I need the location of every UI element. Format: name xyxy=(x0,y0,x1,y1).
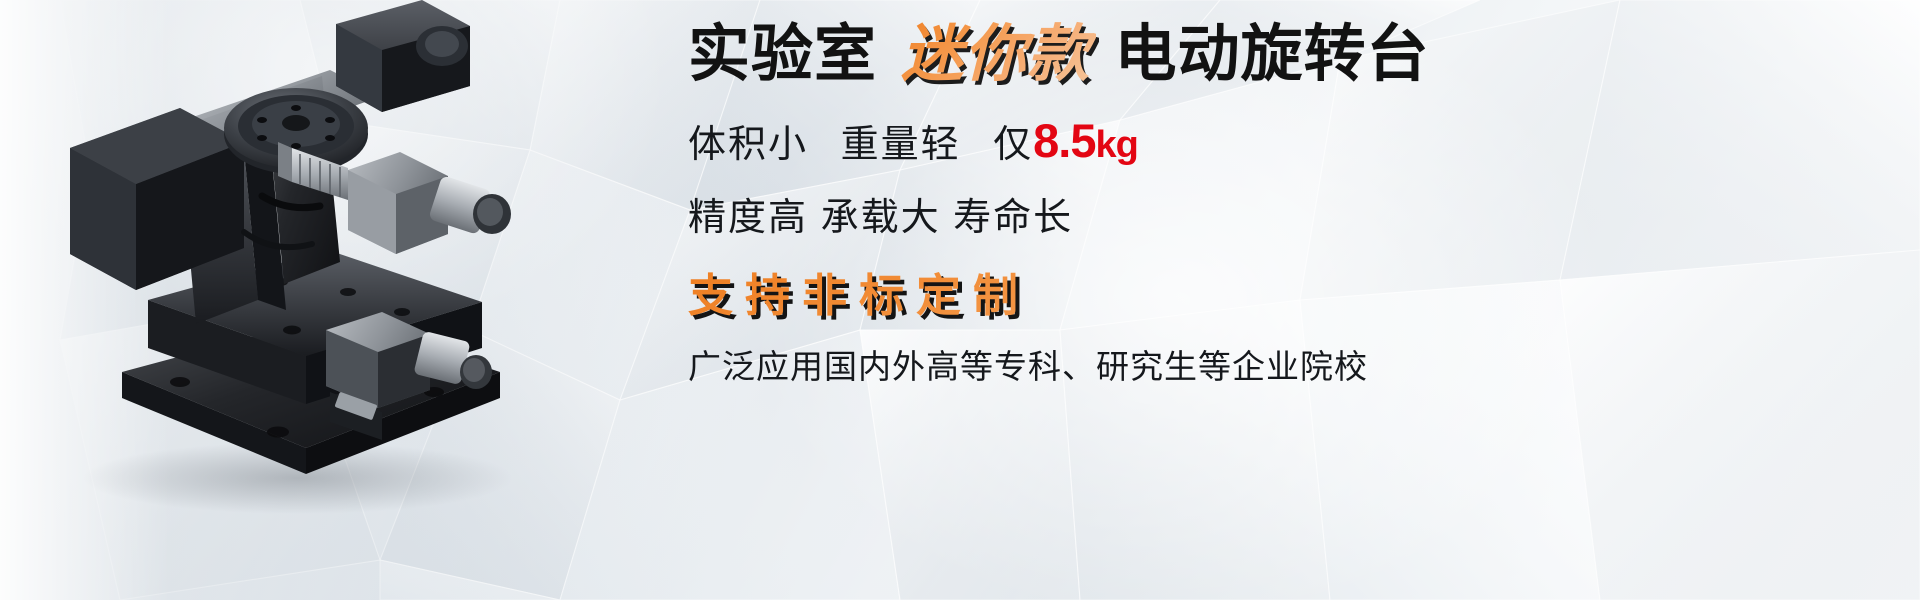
feature-1-item-3: 仅 xyxy=(993,124,1033,166)
feature-1-item-1: 体积小 xyxy=(688,124,808,166)
headline-part1: 实验室 xyxy=(688,20,877,89)
feature-line-2: 精度高 承载大 寿命长 xyxy=(688,186,1878,241)
weight-unit: kg xyxy=(1096,124,1138,166)
product-photo xyxy=(30,0,550,520)
application-text: 广泛应用国内外高等专科、研究生等企业院校 xyxy=(688,340,1878,388)
feature-2-item-2: 承载大 xyxy=(821,197,941,239)
weight-value: 8.5kg xyxy=(1033,114,1138,167)
promo-banner: 实验室 迷你款 电动旋转台 体积小 重量轻 仅8.5kg 精度高 承载大 寿命长… xyxy=(0,0,1920,600)
feature-line-1: 体积小 重量轻 仅8.5kg xyxy=(688,113,1878,168)
headline-accent: 迷你款 xyxy=(895,20,1096,89)
weight-number: 8.5 xyxy=(1033,114,1095,167)
feature-2-item-3: 寿命长 xyxy=(953,197,1073,239)
headline-part2: 电动旋转台 xyxy=(1115,20,1430,89)
copy-block: 实验室 迷你款 电动旋转台 体积小 重量轻 仅8.5kg 精度高 承载大 寿命长… xyxy=(688,18,1878,388)
custom-support-text: 支持非标定制 xyxy=(688,259,1878,324)
feature-2-item-1: 精度高 xyxy=(688,197,808,239)
page-title: 实验室 迷你款 电动旋转台 xyxy=(688,18,1878,91)
feature-1-item-2: 重量轻 xyxy=(841,124,961,166)
